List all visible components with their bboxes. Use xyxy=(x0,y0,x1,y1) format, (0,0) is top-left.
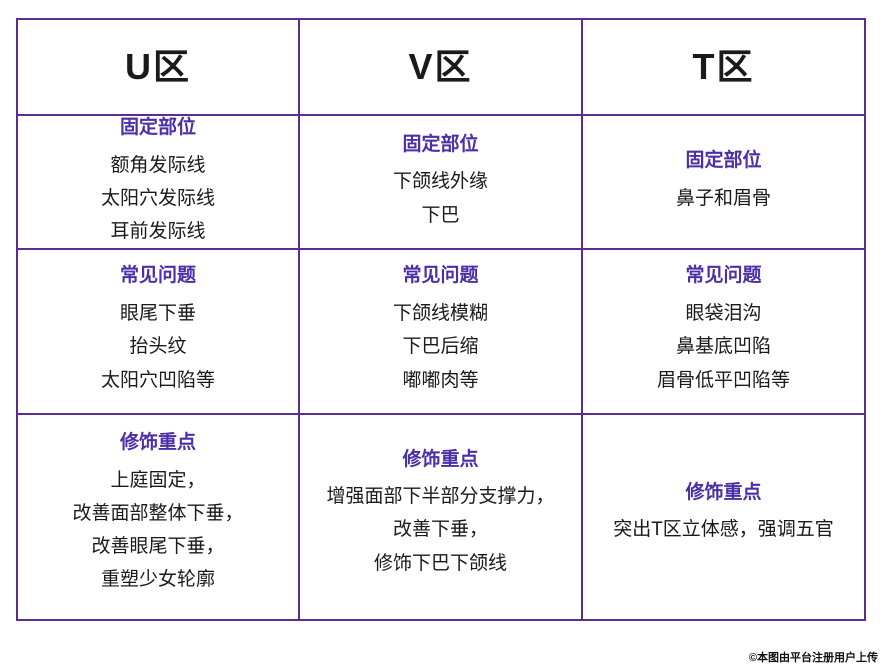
header-label-v: V区 xyxy=(300,47,581,87)
cell-lines: 上庭固定， 改善面部整体下垂， 改善眼尾下垂， 重塑少女轮廓 xyxy=(18,464,298,597)
cell-line: 下巴 xyxy=(300,199,581,232)
table-row: 修饰重点 上庭固定， 改善面部整体下垂， 改善眼尾下垂， 重塑少女轮廓 修饰重点… xyxy=(17,414,865,620)
cell-line: 重塑少女轮廓 xyxy=(18,563,298,596)
cell-title: 固定部位 xyxy=(300,133,581,158)
cell-common-issues-v: 常见问题 下颌线模糊 下巴后缩 嘟嘟肉等 xyxy=(299,249,582,413)
cell-lines: 鼻子和眉骨 xyxy=(583,182,864,215)
cell-title: 修饰重点 xyxy=(583,481,864,506)
cell-title: 常见问题 xyxy=(300,264,581,289)
cell-lines: 额角发际线 太阳穴发际线 耳前发际线 xyxy=(18,149,298,249)
image-canvas: U区 V区 T区 固定部位 额角发际线 太阳穴发际线 耳前发际线 xyxy=(0,0,886,669)
cell-title: 修饰重点 xyxy=(18,431,298,456)
cell-focus-t: 修饰重点 突出T区立体感，强调五官 xyxy=(582,414,865,620)
cell-lines: 突出T区立体感，强调五官 xyxy=(583,513,864,546)
cell-lines: 眼尾下垂 抬头纹 太阳穴凹陷等 xyxy=(18,297,298,397)
cell-line: 突出T区立体感，强调五官 xyxy=(583,513,864,546)
cell-line: 耳前发际线 xyxy=(18,215,298,248)
header-label-t: T区 xyxy=(583,47,864,87)
cell-title: 常见问题 xyxy=(18,264,298,289)
cell-common-issues-u: 常见问题 眼尾下垂 抬头纹 太阳穴凹陷等 xyxy=(17,249,299,413)
cell-line: 改善面部整体下垂， xyxy=(18,497,298,530)
cell-line: 眼袋泪沟 xyxy=(583,297,864,330)
cell-line: 增强面部下半部分支撑力， xyxy=(300,480,581,513)
cell-line: 额角发际线 xyxy=(18,149,298,182)
cell-line: 眼尾下垂 xyxy=(18,297,298,330)
cell-lines: 下颌线外缘 下巴 xyxy=(300,165,581,232)
cell-line: 太阳穴发际线 xyxy=(18,182,298,215)
cell-line: 下颌线外缘 xyxy=(300,165,581,198)
cell-line: 太阳穴凹陷等 xyxy=(18,364,298,397)
cell-line: 下颌线模糊 xyxy=(300,297,581,330)
cell-line: 嘟嘟肉等 xyxy=(300,364,581,397)
cell-lines: 增强面部下半部分支撑力， 改善下垂， 修饰下巴下颌线 xyxy=(300,480,581,580)
header-label-u: U区 xyxy=(18,47,298,87)
cell-focus-u: 修饰重点 上庭固定， 改善面部整体下垂， 改善眼尾下垂， 重塑少女轮廓 xyxy=(17,414,299,620)
cell-fixed-area-v: 固定部位 下颌线外缘 下巴 xyxy=(299,115,582,249)
cell-fixed-area-t: 固定部位 鼻子和眉骨 xyxy=(582,115,865,249)
cell-title: 常见问题 xyxy=(583,264,864,289)
table-row: 常见问题 眼尾下垂 抬头纹 太阳穴凹陷等 常见问题 下颌线模糊 下巴后缩 嘟嘟肉… xyxy=(17,249,865,413)
cell-line: 眉骨低平凹陷等 xyxy=(583,364,864,397)
cell-line: 下巴后缩 xyxy=(300,330,581,363)
table-row: 固定部位 额角发际线 太阳穴发际线 耳前发际线 固定部位 下颌线外缘 下巴 固定 xyxy=(17,115,865,249)
cell-focus-v: 修饰重点 增强面部下半部分支撑力， 改善下垂， 修饰下巴下颌线 xyxy=(299,414,582,620)
cell-line: 改善下垂， xyxy=(300,513,581,546)
cell-line: 上庭固定， xyxy=(18,464,298,497)
cell-lines: 下颌线模糊 下巴后缩 嘟嘟肉等 xyxy=(300,297,581,397)
cell-line: 鼻子和眉骨 xyxy=(583,182,864,215)
cell-line: 抬头纹 xyxy=(18,330,298,363)
table-header-cell-u: U区 xyxy=(17,19,299,115)
cell-title: 修饰重点 xyxy=(300,448,581,473)
cell-fixed-area-u: 固定部位 额角发际线 太阳穴发际线 耳前发际线 xyxy=(17,115,299,249)
cell-line: 修饰下巴下颌线 xyxy=(300,547,581,580)
cell-common-issues-t: 常见问题 眼袋泪沟 鼻基底凹陷 眉骨低平凹陷等 xyxy=(582,249,865,413)
cell-lines: 眼袋泪沟 鼻基底凹陷 眉骨低平凹陷等 xyxy=(583,297,864,397)
table-header-row: U区 V区 T区 xyxy=(17,19,865,115)
cell-line: 改善眼尾下垂， xyxy=(18,530,298,563)
cell-title: 固定部位 xyxy=(583,149,864,174)
table-header-cell-v: V区 xyxy=(299,19,582,115)
watermark-text: ©本图由平台注册用户上传 xyxy=(749,649,878,665)
table-header-cell-t: T区 xyxy=(582,19,865,115)
comparison-table: U区 V区 T区 固定部位 额角发际线 太阳穴发际线 耳前发际线 xyxy=(16,18,866,621)
cell-line: 鼻基底凹陷 xyxy=(583,330,864,363)
cell-title: 固定部位 xyxy=(18,116,298,141)
